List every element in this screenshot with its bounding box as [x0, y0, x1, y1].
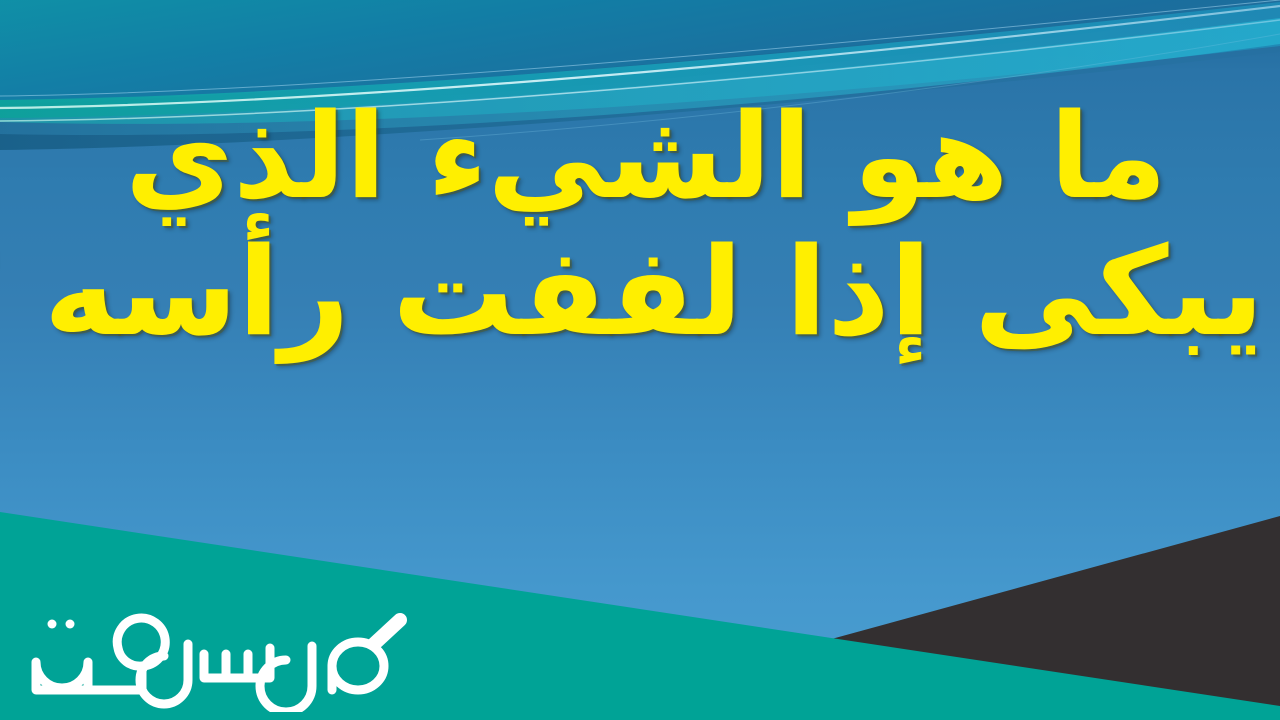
brand-logo[interactable]: موسوعة: [14, 602, 414, 712]
slide-canvas: ما هو الشيء الذي يبكى إذا لففت رأسه ؟ مو…: [0, 0, 1280, 720]
moso3a-wordmark-icon: [14, 604, 414, 712]
